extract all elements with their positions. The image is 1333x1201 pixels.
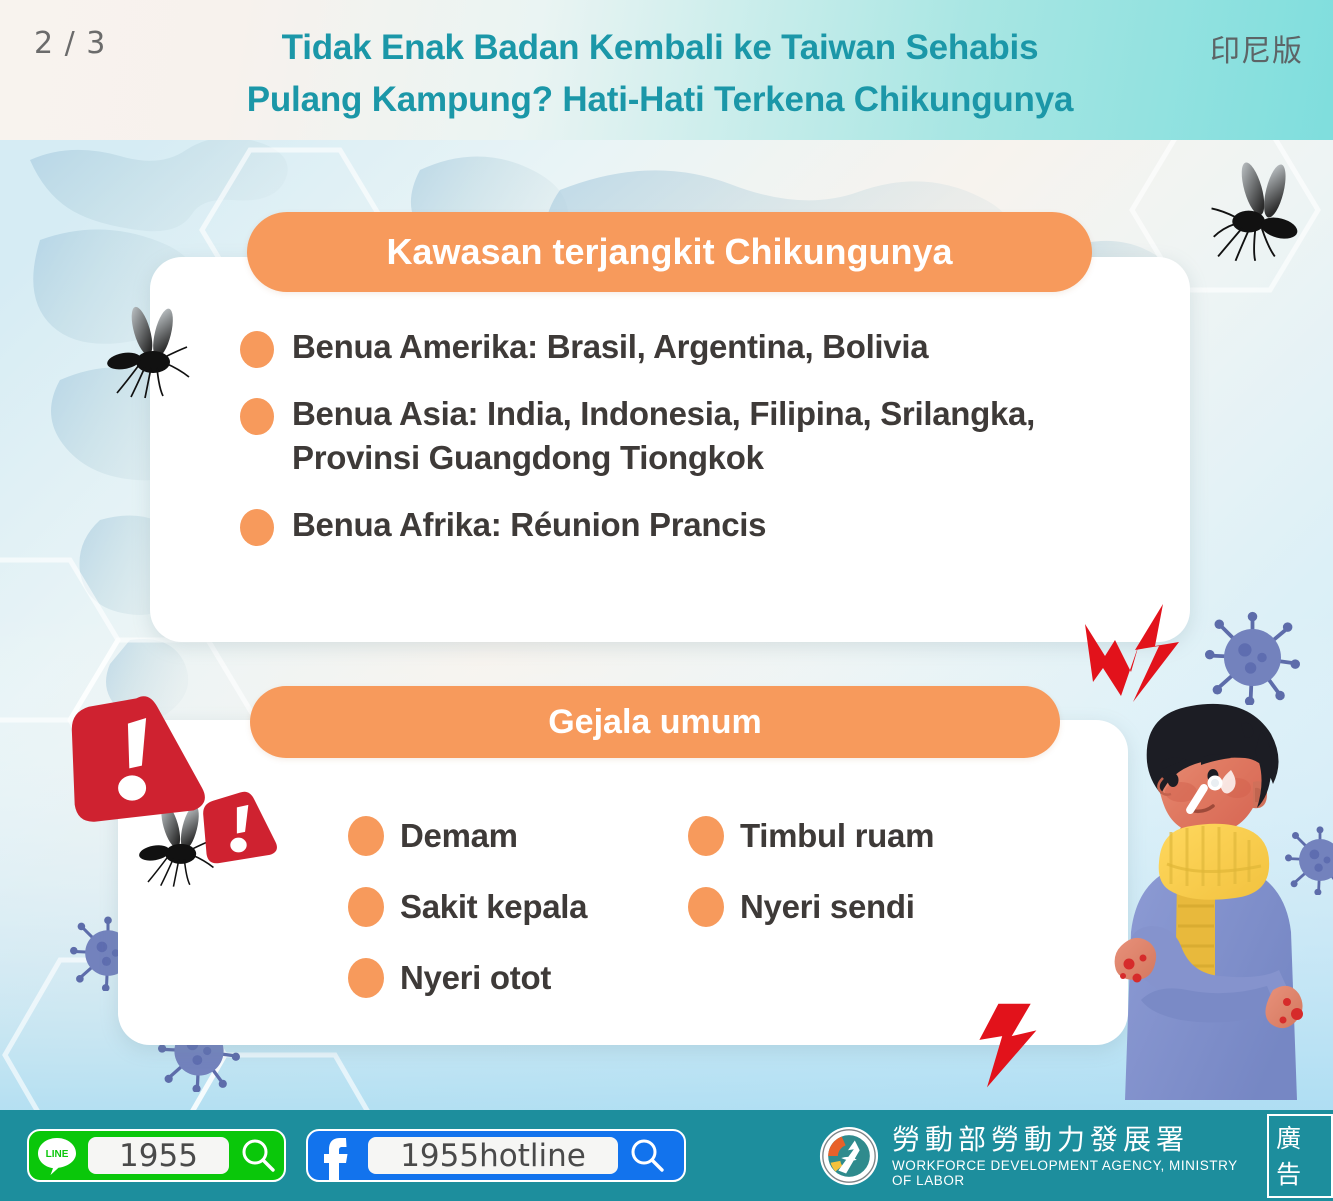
- search-icon[interactable]: [626, 1135, 668, 1177]
- list-item: Nyeri otot: [348, 942, 678, 1013]
- list-item: Benua Asia: India, Indonesia, Filipina, …: [240, 392, 1170, 481]
- facebook-contact-chip[interactable]: 1955hotline: [306, 1129, 686, 1182]
- list-item: Sakit kepala: [348, 871, 678, 942]
- facebook-account-value: 1955hotline: [368, 1137, 618, 1174]
- page-counter: 2 / 3: [34, 26, 106, 61]
- symptoms-card-title-pill: Gejala umum: [250, 686, 1060, 758]
- list-item-label: Sakit kepala: [400, 888, 587, 926]
- list-item-label: Benua Amerika: Brasil, Argentina, Bolivi…: [292, 325, 928, 370]
- footer-bar: LINE 1955 1955hotline: [0, 1110, 1333, 1201]
- list-item-label: Benua Asia: India, Indonesia, Filipina, …: [292, 392, 1170, 481]
- regions-card-title-pill: Kawasan terjangkit Chikungunya: [247, 212, 1092, 292]
- svg-text:LINE: LINE: [46, 1149, 69, 1160]
- agency-branding: 勞動部勞動力發展署 WORKFORCE DEVELOPMENT AGENCY, …: [818, 1124, 1333, 1188]
- bullet-dot-icon: [348, 816, 384, 856]
- page-title-line-2: Pulang Kampung? Hati-Hati Terkena Chikun…: [160, 74, 1160, 126]
- regions-bullet-list: Benua Amerika: Brasil, Argentina, Bolivi…: [240, 325, 1170, 569]
- list-item-label: Demam: [400, 817, 518, 855]
- header-bar: 2 / 3 Tidak Enak Badan Kembali ke Taiwan…: [0, 0, 1333, 140]
- agency-name-chinese: 勞動部勞動力發展署: [892, 1124, 1253, 1155]
- symptoms-card-title: Gejala umum: [548, 703, 762, 742]
- bullet-dot-icon: [240, 398, 274, 435]
- language-badge: 印尼版: [1210, 26, 1303, 70]
- bullet-dot-icon: [688, 887, 724, 927]
- list-item: Timbul ruam: [688, 800, 1018, 871]
- advertisement-badge: 廣告: [1267, 1114, 1333, 1198]
- list-item-label: Timbul ruam: [740, 817, 934, 855]
- line-icon: LINE: [34, 1133, 80, 1179]
- list-item: Benua Afrika: Réunion Prancis: [240, 503, 1170, 548]
- regions-card-title: Kawasan terjangkit Chikungunya: [386, 231, 952, 273]
- bullet-dot-icon: [240, 331, 274, 368]
- facebook-icon: [318, 1132, 362, 1180]
- infographic-poster: Kawasan terjangkit Chikungunya Benua Ame…: [0, 0, 1333, 1201]
- virus-icon: [1205, 610, 1300, 705]
- agency-text-block: 勞動部勞動力發展署 WORKFORCE DEVELOPMENT AGENCY, …: [892, 1124, 1253, 1188]
- bullet-dot-icon: [240, 509, 274, 546]
- list-item-label: Benua Afrika: Réunion Prancis: [292, 503, 766, 548]
- line-account-value: 1955: [88, 1137, 229, 1174]
- list-item-label: Nyeri otot: [400, 959, 551, 997]
- bullet-dot-icon: [348, 958, 384, 998]
- list-item: Nyeri sendi: [688, 871, 1018, 942]
- bullet-dot-icon: [688, 816, 724, 856]
- symptoms-list: Demam Timbul ruam Sakit kepala Nyeri sen…: [348, 800, 1048, 1013]
- agency-name-english: WORKFORCE DEVELOPMENT AGENCY, MINISTRY O…: [892, 1158, 1253, 1188]
- bullet-dot-icon: [348, 887, 384, 927]
- list-item: Benua Amerika: Brasil, Argentina, Bolivi…: [240, 325, 1170, 370]
- virus-icon: [1285, 825, 1333, 895]
- search-icon[interactable]: [237, 1135, 279, 1177]
- page-title: Tidak Enak Badan Kembali ke Taiwan Sehab…: [160, 22, 1160, 126]
- line-contact-chip[interactable]: LINE 1955: [27, 1129, 286, 1182]
- page-title-line-1: Tidak Enak Badan Kembali ke Taiwan Sehab…: [160, 22, 1160, 74]
- agency-seal-icon: [818, 1125, 880, 1187]
- list-item-label: Nyeri sendi: [740, 888, 915, 926]
- list-item: Demam: [348, 800, 678, 871]
